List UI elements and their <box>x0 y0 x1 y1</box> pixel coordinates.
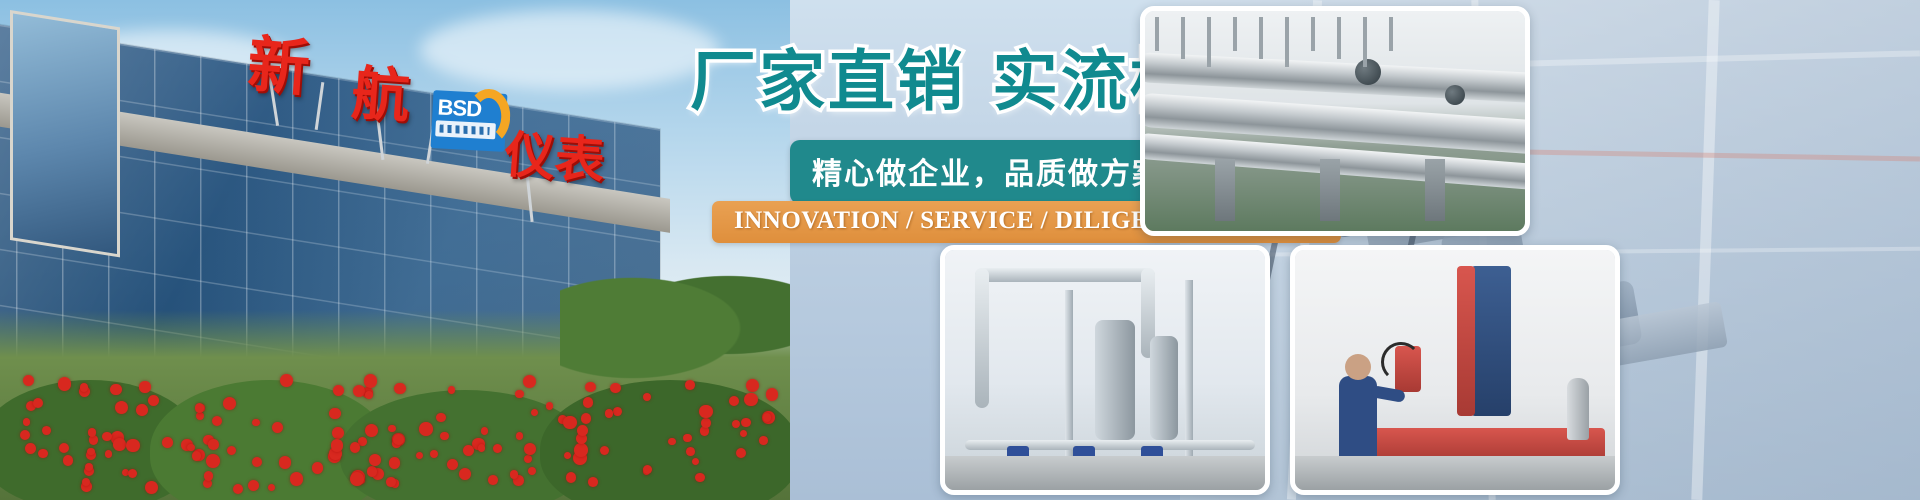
flower <box>759 436 768 445</box>
flower <box>329 408 341 420</box>
flower <box>208 439 219 450</box>
flower <box>563 416 577 430</box>
flower <box>585 382 595 392</box>
roof-sign-char-1: 新 <box>245 14 313 108</box>
flower <box>280 374 293 387</box>
flower <box>389 457 400 468</box>
flower <box>350 472 364 486</box>
flower <box>643 393 651 401</box>
flower <box>746 379 759 392</box>
flower <box>766 388 778 400</box>
promo-banner: 新 航 仪表 BSD 厂家直销 实流标定 精心做企业，品质做方案 INNOVAT… <box>0 0 1920 500</box>
flower <box>613 407 622 416</box>
pipe-hanger <box>1311 17 1315 51</box>
flower <box>668 438 676 446</box>
flower <box>440 432 448 440</box>
flower <box>162 437 173 448</box>
roof-sign-char-2: 航 <box>349 46 413 134</box>
vessel <box>1150 336 1178 440</box>
subtitle-badge: 精心做企业，品质做方案 <box>790 140 1186 204</box>
flower <box>692 458 699 465</box>
flower <box>25 443 36 454</box>
flower <box>272 422 283 433</box>
flower <box>394 383 406 395</box>
flower <box>23 418 31 426</box>
flower <box>206 454 220 468</box>
flower <box>23 375 34 386</box>
flower <box>290 472 303 485</box>
photo-card-operator-cnc-machine <box>1290 245 1620 495</box>
flower <box>701 418 711 428</box>
pipe-hanger <box>1285 17 1289 67</box>
flower <box>516 432 524 440</box>
pipe-stand <box>1320 159 1340 221</box>
flower <box>42 426 51 435</box>
flower <box>139 381 150 392</box>
flower <box>493 444 502 453</box>
building-corner-tower <box>10 10 120 257</box>
flower <box>447 459 458 470</box>
cloud <box>420 10 720 90</box>
flower <box>448 386 455 393</box>
flower <box>145 481 158 494</box>
flower <box>233 484 243 494</box>
flower <box>510 470 519 479</box>
flower <box>581 413 592 424</box>
pipe-hanger <box>1389 17 1393 51</box>
logo-subtitle-plate <box>435 120 496 139</box>
flower <box>416 452 423 459</box>
flower <box>386 477 395 486</box>
pipe-hanger <box>1363 17 1367 67</box>
flower <box>248 480 259 491</box>
flower <box>136 404 148 416</box>
flower <box>459 468 471 480</box>
flower <box>196 412 204 420</box>
photo-card-workshop-piping-skid <box>940 245 1270 495</box>
flower <box>566 472 576 482</box>
flower <box>463 445 474 456</box>
flower <box>430 450 438 458</box>
flower <box>523 375 536 388</box>
flower <box>763 413 771 421</box>
flower <box>227 446 236 455</box>
flower <box>87 448 95 456</box>
flower <box>212 416 222 426</box>
flower <box>528 467 536 475</box>
flower <box>683 434 692 443</box>
valve <box>1445 85 1465 105</box>
pipe-hanger <box>1337 17 1341 59</box>
operator-head <box>1345 354 1371 380</box>
floor <box>945 456 1265 490</box>
flower <box>732 420 740 428</box>
flower <box>268 484 275 491</box>
flower <box>350 442 361 453</box>
machine-column <box>1471 266 1511 416</box>
pipe-hanger <box>1181 17 1185 59</box>
flower <box>38 449 48 459</box>
flower <box>531 409 538 416</box>
flower <box>102 432 112 442</box>
flower <box>610 383 621 394</box>
flower <box>488 475 498 485</box>
flower <box>252 419 259 426</box>
hanger-row <box>1145 11 1525 71</box>
flower <box>574 443 588 457</box>
flower <box>365 424 378 437</box>
flower <box>59 443 69 453</box>
flower <box>333 385 344 396</box>
flower <box>105 450 113 458</box>
factory-building-photo: 新 航 仪表 BSD <box>0 0 790 500</box>
flower <box>524 443 536 455</box>
photo-workshop-piping-skid <box>945 250 1265 490</box>
flower <box>564 452 571 459</box>
flower <box>365 391 373 399</box>
flower <box>685 380 695 390</box>
flower <box>393 434 404 445</box>
flower <box>740 430 747 437</box>
pipe-hanger <box>1207 17 1211 67</box>
flower-bed <box>0 340 790 500</box>
flower <box>744 393 758 407</box>
flower <box>736 448 746 458</box>
vessel <box>1095 320 1135 440</box>
flower <box>577 425 588 436</box>
pipe-stand <box>1215 159 1235 221</box>
photo-flow-calibration-rig <box>1145 11 1525 231</box>
pipe-hanger <box>1155 17 1159 51</box>
flower <box>524 455 532 463</box>
flower <box>195 403 204 412</box>
flower <box>478 444 486 452</box>
flower <box>588 477 598 487</box>
flower <box>546 402 554 410</box>
flower <box>600 446 609 455</box>
flower <box>436 413 446 423</box>
roof-sign-char-3: 仪表 <box>503 115 608 194</box>
flower <box>58 377 72 391</box>
machine-rail <box>1457 266 1475 416</box>
flower <box>699 405 712 418</box>
pipe <box>975 268 989 408</box>
flower <box>353 385 365 397</box>
flower <box>252 457 263 468</box>
flower <box>331 439 344 452</box>
flower <box>192 451 202 461</box>
flower <box>332 427 344 439</box>
flower <box>33 398 43 408</box>
flower <box>695 473 705 483</box>
flower <box>741 418 750 427</box>
flower <box>20 430 30 440</box>
flower <box>110 384 122 396</box>
flower <box>312 462 324 474</box>
flower <box>128 469 137 478</box>
flower <box>369 454 381 466</box>
flower <box>583 397 594 408</box>
flower <box>223 397 236 410</box>
flower <box>113 438 126 451</box>
pipe-hanger <box>1259 17 1263 59</box>
flower <box>63 455 73 465</box>
torch-cable <box>1381 342 1421 382</box>
flower <box>605 409 613 417</box>
flower <box>515 390 524 399</box>
pipe-stand <box>1425 159 1445 221</box>
logo-text: BSD <box>437 94 482 122</box>
flower <box>126 439 139 452</box>
photo-operator-cnc-machine <box>1295 250 1615 490</box>
flower <box>279 456 291 468</box>
pipe <box>975 268 1155 282</box>
flower <box>187 444 194 451</box>
gas-cylinder <box>1567 378 1589 440</box>
flower <box>643 465 652 474</box>
flower <box>419 422 433 436</box>
photo-card-flow-calibration-rig <box>1140 6 1530 236</box>
flower <box>364 374 377 387</box>
company-logo-board: BSD <box>431 90 508 152</box>
flower <box>729 396 739 406</box>
pipe-hanger <box>1233 17 1237 51</box>
flower <box>388 425 396 433</box>
flower <box>686 447 695 456</box>
floor <box>1295 456 1615 490</box>
flower <box>148 395 159 406</box>
flower <box>85 463 93 471</box>
flower <box>481 427 488 434</box>
flower <box>115 401 128 414</box>
flower <box>204 471 213 480</box>
